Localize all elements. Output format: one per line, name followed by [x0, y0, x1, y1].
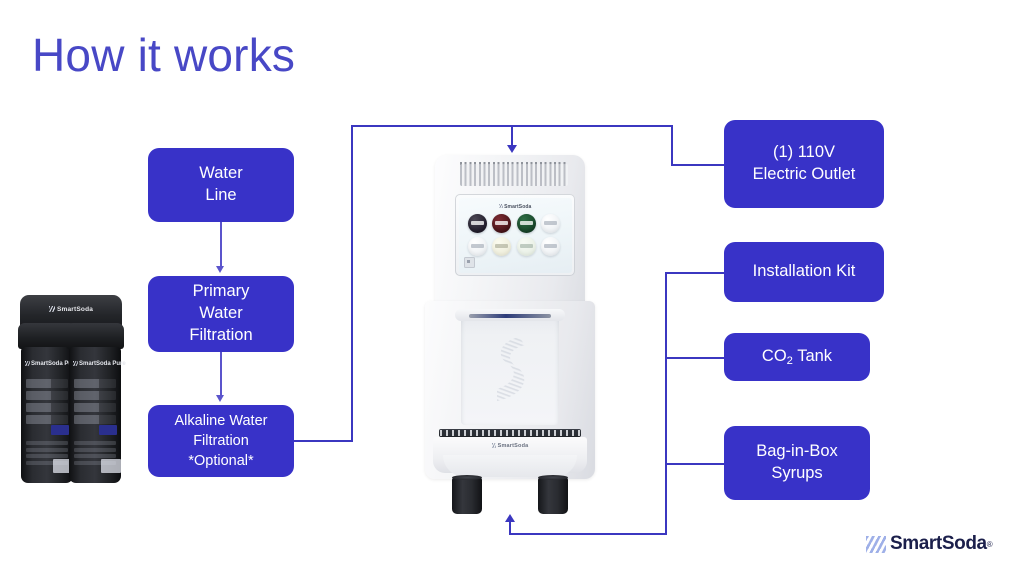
machine-lower-body: SmartSoda [425, 301, 595, 479]
smartsoda-swirl-graphic-icon [485, 331, 535, 407]
flow-box-bag-in-box-syrups[interactable]: Bag-in-Box Syrups [724, 426, 870, 500]
machine-tray-curve [443, 455, 577, 477]
machine-touchscreen[interactable]: SmartSoda [459, 198, 572, 273]
filter-body: SmartSoda Pure [69, 347, 121, 483]
connector-primary-to-alkaline [220, 352, 222, 397]
smartsoda-machine-image: SmartSoda [425, 155, 595, 520]
flow-box-co2-prefix: CO [762, 347, 787, 365]
filter-collar [66, 323, 124, 349]
flow-box-installation-kit[interactable]: Installation Kit [724, 242, 884, 302]
connector-into-machine-top [511, 125, 513, 147]
flow-box-installation-kit-label: Installation Kit [753, 261, 856, 283]
flow-box-alkaline-line2: Filtration [175, 431, 268, 451]
arrowhead-waterline-to-primary [216, 266, 224, 273]
arrowhead-into-machine-top [507, 145, 517, 153]
smartsoda-mark-icon [499, 204, 503, 208]
drink-button-8[interactable] [541, 237, 560, 256]
flow-box-alkaline-line3: *Optional* [175, 451, 268, 471]
smartsoda-logo: SmartSoda® [866, 533, 1012, 559]
connector-bottom-rail [509, 533, 667, 535]
flow-box-co2-tank[interactable]: CO2 Tank [724, 333, 870, 381]
smartsoda-mark-icon [49, 306, 55, 312]
flow-box-water-line[interactable]: Water Line [148, 148, 294, 222]
connector-alkaline-right [294, 440, 353, 442]
flow-box-outlet-line2: Electric Outlet [753, 164, 856, 186]
filter-spec-rows [74, 379, 116, 427]
machine-dispense-nozzle [469, 314, 551, 318]
screen-settings-icon[interactable] [464, 257, 475, 268]
flow-box-co2-suffix: Tank [793, 347, 832, 365]
connector-outlet-to-rail [671, 164, 726, 166]
flow-box-water-line-line1: Water [199, 163, 242, 185]
filter-certification-badge [101, 459, 121, 473]
slide-canvas: How it works Water Line Primary Water Fi… [0, 0, 1024, 561]
machine-screen-bezel: SmartSoda [455, 194, 575, 276]
smartsoda-mark-icon [25, 361, 30, 366]
filter-head-brand: SmartSoda [20, 306, 122, 313]
smartsoda-logo-text: SmartSoda® [890, 533, 992, 555]
drink-button-row [468, 214, 564, 233]
connector-waterline-to-primary [220, 222, 222, 268]
flow-box-primary-line1: Primary [189, 281, 252, 303]
trademark-symbol: ® [987, 540, 993, 549]
flow-box-primary-line2: Water [189, 303, 252, 325]
flow-box-water-line-line2: Line [199, 185, 242, 207]
connector-co2-stub [665, 357, 726, 359]
smartsoda-mark-icon [866, 536, 886, 553]
filter-spec-rows [26, 379, 68, 427]
filter-label-brand: SmartSoda Pure [25, 361, 69, 367]
arrowhead-primary-to-alkaline [216, 395, 224, 402]
drink-button-grid [468, 214, 564, 260]
drink-button-row [468, 237, 564, 256]
connector-left-riser [351, 126, 353, 442]
machine-drip-tray-grate [439, 429, 581, 437]
smartsoda-mark-icon [492, 443, 497, 448]
water-filter-cartridges-image: SmartSoda SmartSoda Pure [8, 295, 134, 483]
screen-brand-label: SmartSoda [459, 204, 572, 210]
machine-dispense-alcove [461, 315, 559, 425]
machine-tray-brand-label: SmartSoda [425, 443, 595, 449]
page-title: How it works [32, 30, 295, 81]
smartsoda-mark-icon [73, 361, 78, 366]
arrowhead-into-machine-bottom [505, 514, 515, 522]
drink-button-3[interactable] [517, 214, 536, 233]
connector-bag-in-box-stub [665, 463, 726, 465]
flow-box-alkaline-line1: Alkaline Water [175, 411, 268, 431]
filter-label-brand: SmartSoda Pure [73, 361, 117, 367]
machine-leg-right [538, 477, 568, 514]
flow-box-outlet-line1: (1) 110V [753, 142, 856, 164]
drink-button-2[interactable] [492, 214, 511, 233]
flow-box-electric-outlet[interactable]: (1) 110V Electric Outlet [724, 120, 884, 208]
drink-button-6[interactable] [492, 237, 511, 256]
drink-button-5[interactable] [468, 237, 487, 256]
filter-blue-chip [99, 425, 117, 435]
flow-box-bag-in-box-line1: Bag-in-Box [756, 441, 838, 463]
connector-into-machine-bottom [509, 521, 511, 534]
machine-upper-body: SmartSoda [435, 155, 585, 325]
filter-cartridge-right: SmartSoda Pure [66, 323, 124, 483]
flow-box-bag-in-box-line2: Syrups [756, 463, 838, 485]
connector-outlet-riser [671, 125, 673, 165]
drink-button-1[interactable] [468, 214, 487, 233]
machine-vent-grille-icon [460, 164, 568, 186]
machine-leg-left [452, 477, 482, 514]
flow-box-primary-water-filtration[interactable]: Primary Water Filtration [148, 276, 294, 352]
drink-button-4[interactable] [541, 214, 560, 233]
connector-right-bus [665, 272, 667, 535]
connector-installation-kit-stub [665, 272, 726, 274]
flow-box-primary-line3: Filtration [189, 325, 252, 347]
drink-button-7[interactable] [517, 237, 536, 256]
flow-box-alkaline-water-filtration[interactable]: Alkaline Water Filtration *Optional* [148, 405, 294, 477]
